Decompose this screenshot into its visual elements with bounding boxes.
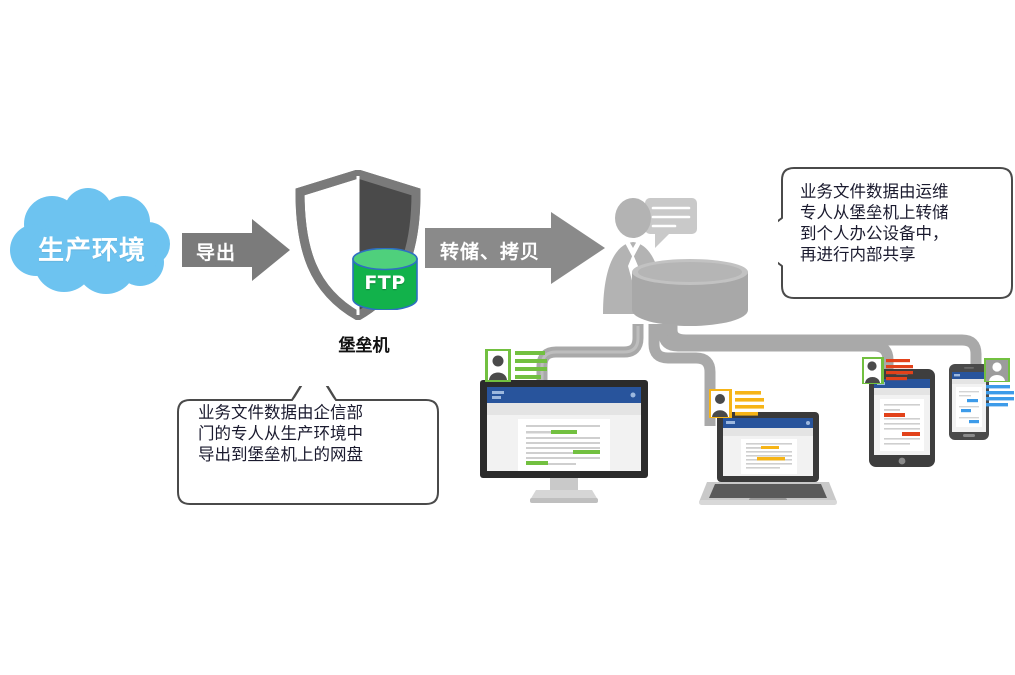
export-arrow-label: 导出 [196,238,236,265]
callout-right-text: 业务文件数据由运维 专人从堡垒机上转储 到个人办公设备中， 再进行内部共享 [800,181,998,265]
ftp-label: FTP [352,272,418,294]
callout-transfer-to-devices: 业务文件数据由运维 专人从堡垒机上转储 到个人办公设备中， 再进行内部共享 [778,166,1014,302]
cloud-label: 生产环境 [8,230,176,267]
contact-card-tablet [862,357,914,389]
contact-card-desktop [485,349,547,387]
production-environment-cloud: 生产环境 [8,188,176,300]
contact-card-laptop [709,389,765,423]
laptop [697,410,839,510]
contact-card-phone [984,358,1015,412]
desktop-monitor [478,378,650,506]
transfer-copy-arrow-label: 转储、拷贝 [440,237,540,264]
callout-left-text: 业务文件数据由企信部 门的专人从生产环境中 导出到堡垒机上的网盘 [198,402,420,465]
bastion-host-label: 堡垒机 [306,331,422,356]
diagram-canvas: 生产环境 导出 FTP 堡垒机 [0,0,1015,675]
ftp-storage-cylinder: FTP [352,248,418,310]
callout-export-to-bastion: 业务文件数据由企信部 门的专人从生产环境中 导出到堡垒机上的网盘 [176,386,440,508]
